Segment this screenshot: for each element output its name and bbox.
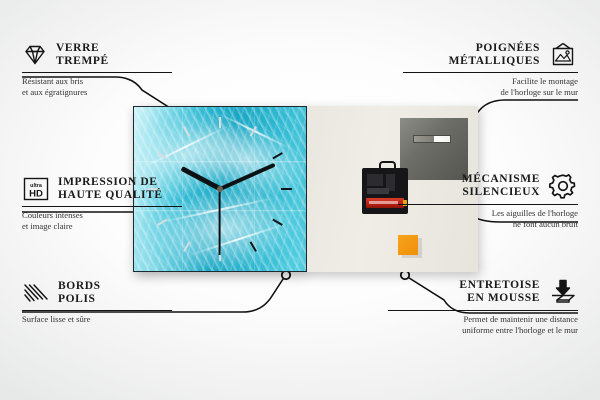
feature-rule xyxy=(22,310,172,311)
picture-frame-icon xyxy=(548,42,578,68)
metallic-handle-photo xyxy=(400,118,468,180)
clock-tick xyxy=(219,117,221,128)
clock-tick xyxy=(183,126,190,137)
feature-entretoise-en-mousse: ENTRETOISE EN MOUSSE Permet de maintenir… xyxy=(388,278,578,336)
feature-description: Résistant aux bris et aux égratignures xyxy=(22,76,172,98)
feature-verre-trempe: VERRE TREMPÉ Résistant aux bris et aux é… xyxy=(22,42,172,98)
feature-impression-haute-qualite: ultra HD IMPRESSION DE HAUTE QUALITÉ Cou… xyxy=(22,176,182,232)
feature-description: Les aiguilles de l'horloge ne font aucun… xyxy=(398,208,578,230)
feature-rule xyxy=(398,204,578,205)
clock-tick xyxy=(183,241,190,252)
mechanism-detail xyxy=(367,188,389,194)
foam-spacer-icon xyxy=(548,278,578,306)
clock-center-cap xyxy=(217,186,223,192)
battery-label xyxy=(369,201,398,204)
feature-title: MÉCANISME SILENCIEUX xyxy=(462,173,540,199)
clock-second-hand xyxy=(219,189,221,255)
clock-tick xyxy=(272,152,283,159)
foam-spacer-photo xyxy=(398,235,418,255)
diamond-icon xyxy=(22,44,48,66)
feature-description: Facilite le montage de l'horloge sur le … xyxy=(403,76,578,98)
clock-tick xyxy=(250,126,257,137)
feature-rule xyxy=(22,72,172,73)
clock-tick xyxy=(157,152,168,159)
mechanism-detail xyxy=(367,174,383,186)
feature-title: BORDS POLIS xyxy=(58,280,101,306)
feature-title: VERRE TREMPÉ xyxy=(56,42,109,68)
ultra-hd-badge-icon: ultra HD xyxy=(22,176,50,202)
gear-icon xyxy=(548,172,578,200)
feature-title: POIGNÉES MÉTALLIQUES xyxy=(449,42,540,68)
clock-minute-hand xyxy=(219,163,275,191)
feature-rule xyxy=(403,72,578,73)
handle-slot xyxy=(413,135,451,143)
clock-tick xyxy=(250,241,257,252)
mechanism-shaft xyxy=(379,161,396,172)
clock-hour-hand xyxy=(180,166,221,191)
feature-description: Surface lisse et sûre xyxy=(22,314,172,325)
svg-text:HD: HD xyxy=(29,189,43,200)
infographic-canvas: VERRE TREMPÉ Résistant aux bris et aux é… xyxy=(0,0,600,400)
feature-bords-polis: BORDS POLIS Surface lisse et sûre xyxy=(22,280,172,325)
clock-tick xyxy=(281,188,292,190)
feature-poignees-metalliques: POIGNÉES MÉTALLIQUES Facilite le montage… xyxy=(403,42,578,98)
clock-tick xyxy=(272,219,283,226)
feature-title: ENTRETOISE EN MOUSSE xyxy=(459,279,540,305)
feature-mecanisme-silencieux: MÉCANISME SILENCIEUX Les aiguilles de l'… xyxy=(398,172,578,230)
connector-dot-bords-polis xyxy=(282,271,290,279)
polished-edges-icon xyxy=(22,282,50,304)
feature-title: IMPRESSION DE HAUTE QUALITÉ xyxy=(58,176,163,202)
feature-rule xyxy=(22,206,182,207)
feature-description: Couleurs intenses et image claire xyxy=(22,210,182,232)
feature-description: Permet de maintenir une distance uniform… xyxy=(388,314,578,336)
feature-rule xyxy=(388,310,578,311)
